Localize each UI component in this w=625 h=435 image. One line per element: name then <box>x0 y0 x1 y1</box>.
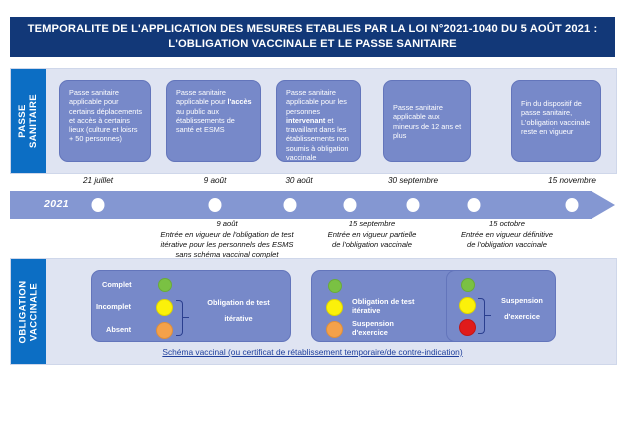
timeline-caption-2: 15 septembre Entrée en vigueur partielle… <box>307 219 437 250</box>
panel-1-bracket-icon <box>176 300 183 336</box>
passe-card-3-text-before: Passe sanitaire applicable pour les pers… <box>286 88 347 116</box>
panel-2-label-yellow-line-2: itérative <box>352 306 380 315</box>
obligation-vaccinale-tab-label-2: VACCINALE <box>29 282 40 340</box>
panel-3-grouped-label-line-2: d'exercice <box>492 312 552 321</box>
timeline-caption-2-line-2: de l'obligation vaccinale <box>332 240 412 249</box>
panel-1-dot-orange-icon <box>156 322 173 339</box>
timeline-marker-4 <box>344 198 357 212</box>
passe-card-3-bold: intervenant <box>286 116 325 125</box>
passe-card-1: Passe sanitaire applicable pour certains… <box>59 80 151 162</box>
passe-card-2-text-after: au public aux établissements de santé et… <box>176 107 235 135</box>
page-title-line-2: L'OBLIGATION VACCINALE ET LE PASSE SANIT… <box>168 37 456 52</box>
passe-card-1-text: Passe sanitaire applicable pour certains… <box>69 88 142 143</box>
passe-card-4: Passe sanitaire applicable aux mineurs d… <box>383 80 471 162</box>
timeline-caption-1-line-2: itérative pour les personnels des ESMS <box>161 240 294 249</box>
panel-2-label-orange-line-2: d'exercice <box>352 328 388 337</box>
obligation-panel-1: Complet Incomplet Absent Obligation de t… <box>91 270 291 342</box>
passe-card-5: Fin du dispositif de passe sanitaire, L'… <box>511 80 601 162</box>
footer-note: Schéma vaccinal (ou certificat de rétabl… <box>0 347 625 357</box>
passe-card-2: Passe sanitaire applicable pour l'accès … <box>166 80 261 162</box>
timeline-caption-3-line-1: Entrée en vigueur définitive <box>461 230 553 239</box>
passe-sanitaire-tab-label-2: SANITAIRE <box>29 94 40 148</box>
timeline-marker-5 <box>407 198 420 212</box>
passe-sanitaire-tab: PASSE SANITAIRE <box>11 69 46 173</box>
timeline-date-1: 21 juillet <box>83 176 113 185</box>
passe-card-4-text: Passe sanitaire applicable aux mineurs d… <box>393 103 461 140</box>
panel-1-grouped-label-line-1: Obligation de test <box>191 298 286 307</box>
panel-2-label-yellow-line-1: Obligation de test <box>352 297 414 306</box>
timeline-arrow-head <box>591 191 615 219</box>
timeline-marker-1 <box>92 198 105 212</box>
page-title: TEMPORALITE DE L'APPLICATION DES MESURES… <box>10 17 615 57</box>
timeline-date-5: 15 novembre <box>548 176 596 185</box>
timeline-caption-3: 15 octobre Entrée en vigueur définitive … <box>432 219 582 250</box>
infographic-page: TEMPORALITE DE L'APPLICATION DES MESURES… <box>0 0 625 435</box>
timeline-caption-2-date: 15 septembre <box>307 219 437 229</box>
passe-card-5-text: Fin du dispositif de passe sanitaire, L'… <box>521 99 590 136</box>
panel-1-bracket-stem-icon <box>183 317 189 318</box>
passe-sanitaire-tab-label-1: PASSE <box>18 104 29 138</box>
timeline-year-label: 2021 <box>44 198 69 210</box>
panel-2-label-orange-line-1: Suspension <box>352 319 394 328</box>
panel-3-bracket-icon <box>478 298 485 334</box>
timeline-date-3: 30 août <box>285 176 312 185</box>
panel-1-label-absent: Absent <box>106 325 131 334</box>
passe-card-3: Passe sanitaire applicable pour les pers… <box>276 80 361 162</box>
timeline-caption-3-line-2: de l'obligation vaccinale <box>467 240 547 249</box>
timeline-marker-7 <box>566 198 579 212</box>
timeline-caption-1: 9 août Entrée en vigueur de l'obligation… <box>127 219 327 260</box>
panel-1-label-incomplet: Incomplet <box>96 302 131 311</box>
panel-1-label-complet: Complet <box>102 280 132 289</box>
panel-3-dot-yellow-icon <box>459 297 476 314</box>
timeline-caption-1-line-1: Entrée en vigueur de l'obligation de tes… <box>160 230 293 239</box>
panel-3-grouped-label-line-1: Suspension <box>492 296 552 305</box>
timeline-date-2: 9 août <box>204 176 227 185</box>
passe-sanitaire-section: PASSE SANITAIRE Passe sanitaire applicab… <box>10 68 617 174</box>
panel-1-grouped-label-line-2: itérative <box>191 314 286 323</box>
panel-2-dot-yellow-icon <box>326 299 343 316</box>
panel-3-dot-green-icon <box>461 278 475 292</box>
panel-3-bracket-stem-icon <box>485 315 491 316</box>
passe-card-2-text-before: Passe sanitaire applicable pour <box>176 88 228 106</box>
timeline-date-labels: 21 juillet 9 août 30 août 30 septembre 1… <box>0 176 625 190</box>
timeline-caption-3-date: 15 octobre <box>432 219 582 229</box>
timeline-caption-1-date: 9 août <box>127 219 327 229</box>
passe-card-2-bold: l'accès <box>228 97 252 106</box>
timeline-marker-3 <box>284 198 297 212</box>
panel-2-dot-green-icon <box>328 279 342 293</box>
panel-3-dot-red-icon <box>459 319 476 336</box>
panel-1-dot-yellow-icon <box>156 299 173 316</box>
panel-2-dot-orange-icon <box>326 321 343 338</box>
timeline-arrow: 2021 <box>10 191 615 219</box>
obligation-vaccinale-tab-label-1: OBLIGATION <box>18 280 29 343</box>
timeline-marker-2 <box>209 198 222 212</box>
page-title-line-1: TEMPORALITE DE L'APPLICATION DES MESURES… <box>28 22 598 37</box>
timeline-date-4: 30 septembre <box>388 176 438 185</box>
timeline-marker-6 <box>468 198 481 212</box>
panel-1-dot-green-icon <box>158 278 172 292</box>
timeline-caption-2-line-1: Entrée en vigueur partielle <box>328 230 417 239</box>
obligation-panel-3: Suspension d'exercice <box>446 270 556 342</box>
